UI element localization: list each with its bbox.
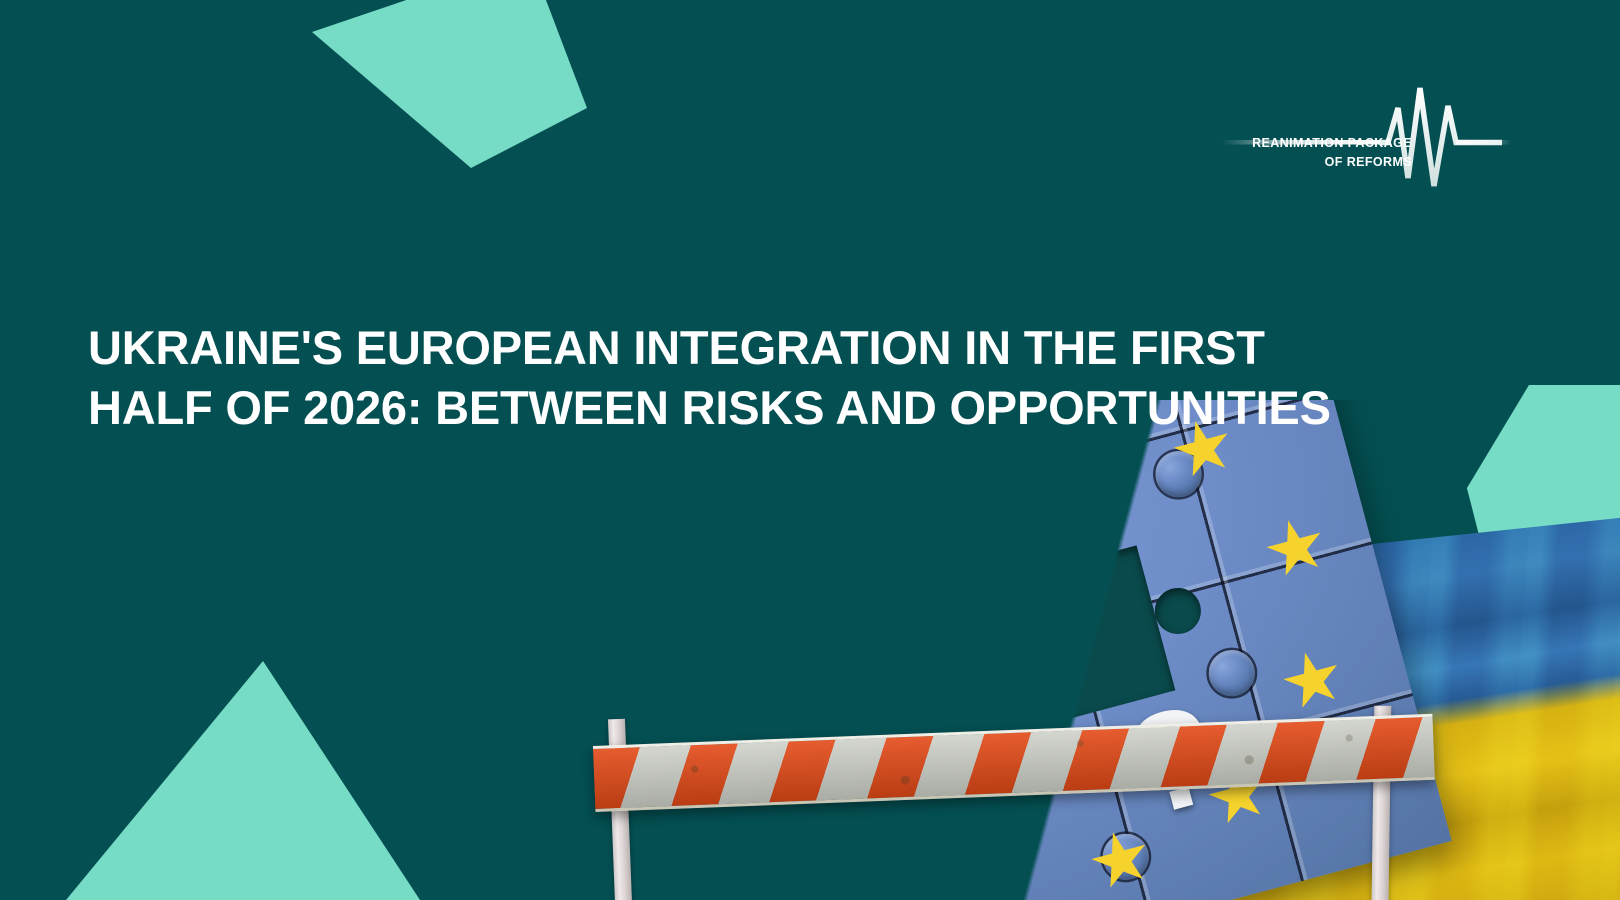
banner-cover: ? UKRAINE'S EUROPEAN INTEGRATION IN THE … [0,0,1620,900]
logo-text-line1: REANIMATION PACKAGE [1212,134,1412,153]
photo-diagonal-mask [560,400,1620,900]
logo-text-line2: OF REFORMS [1212,153,1412,172]
eu-puzzle-barrier-photo: ? [560,400,1620,900]
mint-triangle-bottom-left-decoration [0,640,420,900]
logo[interactable]: REANIMATION PACKAGE OF REFORMS [1212,86,1512,191]
page-title: UKRAINE'S EUROPEAN INTEGRATION IN THE FI… [88,318,1348,438]
logo-text: REANIMATION PACKAGE OF REFORMS [1212,134,1412,172]
mint-quadrilateral-top-decoration [280,0,600,188]
